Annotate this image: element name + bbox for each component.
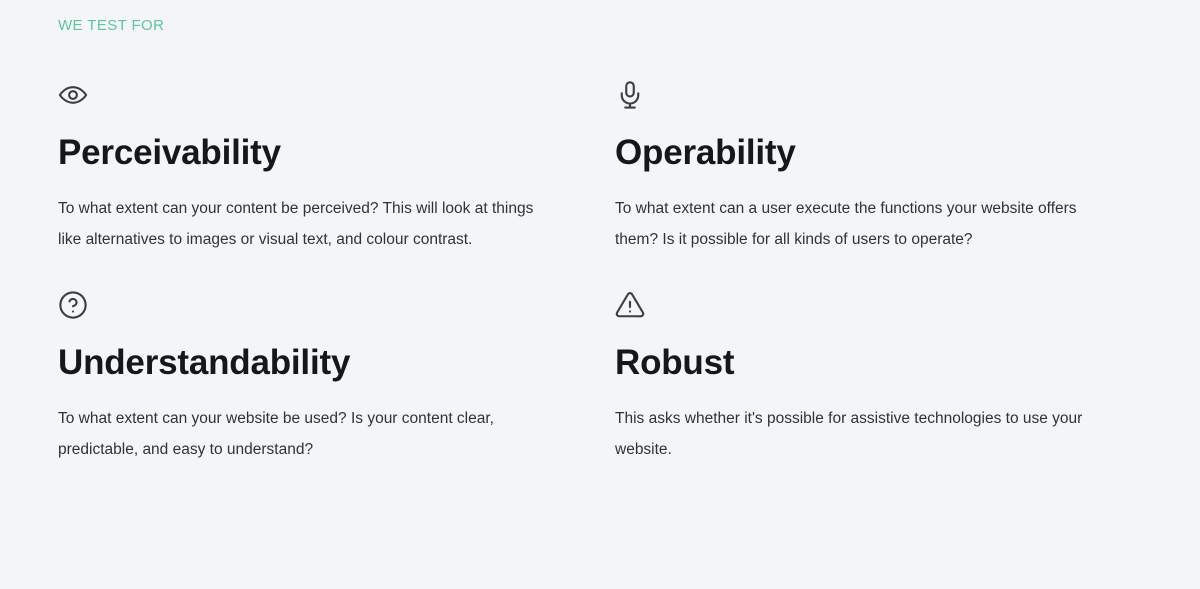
question-mark-circle-icon bbox=[58, 290, 598, 326]
feature-card-description: To what extent can your website be used?… bbox=[58, 404, 538, 465]
microphone-icon bbox=[615, 80, 1155, 116]
feature-card-description: This asks whether it's possible for assi… bbox=[615, 404, 1105, 465]
feature-card-title: Understandability bbox=[58, 342, 598, 384]
feature-card-title: Operability bbox=[615, 132, 1155, 174]
feature-card-understandability: Understandability To what extent can you… bbox=[58, 255, 598, 465]
feature-card-perceivability: Perceivability To what extent can your c… bbox=[58, 80, 598, 255]
feature-card-grid: Perceivability To what extent can your c… bbox=[0, 80, 1200, 465]
feature-card-title: Perceivability bbox=[58, 132, 598, 174]
feature-card-operability: Operability To what extent can a user ex… bbox=[615, 80, 1155, 255]
alert-triangle-icon bbox=[615, 290, 1155, 326]
feature-card-description: To what extent can a user execute the fu… bbox=[615, 194, 1105, 255]
feature-card-title: Robust bbox=[615, 342, 1155, 384]
eye-icon bbox=[58, 80, 598, 116]
section-eyebrow-label: WE TEST FOR bbox=[58, 16, 164, 36]
feature-card-description: To what extent can your content be perce… bbox=[58, 194, 538, 255]
we-test-for-section: WE TEST FOR Perceivability To what exten… bbox=[0, 0, 1200, 589]
feature-card-robust: Robust This asks whether it's possible f… bbox=[615, 255, 1155, 465]
